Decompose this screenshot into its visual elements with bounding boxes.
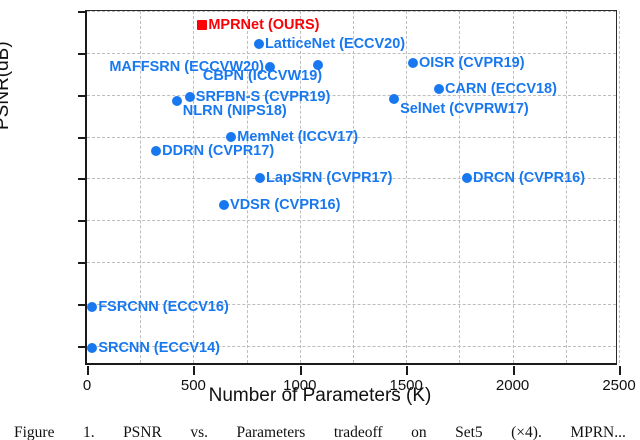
marker-circle-icon [87,343,97,353]
data-point-label: CBPN (ICCVW19) [203,69,322,84]
caption-word: Parameters [236,424,305,440]
marker-square-icon [197,20,207,30]
y-tick-mark [78,11,87,13]
data-point-label: MPRNet (OURS) [208,18,319,33]
data-point-label: DDRN (CVPR17) [162,144,274,159]
data-point-label: FSRCNN (ECCV16) [98,300,229,315]
x-tick-mark [406,366,408,375]
marker-circle-icon [434,84,444,94]
x-tick-mark [300,366,302,375]
marker-circle-icon [87,302,97,312]
gridline-horizontal [87,220,616,221]
x-tick-mark [513,366,515,375]
y-tick-mark [78,346,87,348]
caption-word: tradeoff [334,424,383,440]
marker-circle-icon [255,173,265,183]
data-point-label: LatticeNet (ECCV20) [265,37,405,52]
gridline-horizontal [87,11,616,12]
data-point-label: OISR (CVPR19) [419,56,525,71]
y-tick-mark [78,137,87,139]
y-tick-mark [78,304,87,306]
marker-circle-icon [389,94,399,104]
gridline-vertical [566,11,567,363]
data-point-label: DRCN (CVPR16) [473,171,585,186]
gridline-vertical [300,11,301,363]
gridline-horizontal [87,53,616,54]
x-tick-mark [619,366,621,375]
gridline-vertical [353,11,354,363]
y-tick-mark [78,220,87,222]
data-point-label: SelNet (CVPRW17) [400,102,529,117]
x-tick-mark [193,366,195,375]
gridline-vertical [619,11,620,363]
x-tick-mark [87,366,89,375]
caption-word: PSNR [123,424,162,440]
marker-circle-icon [172,96,182,106]
marker-circle-icon [185,92,195,102]
caption-word: 1. [83,424,95,440]
marker-circle-icon [408,58,418,68]
y-tick-mark [78,262,87,264]
y-tick-mark [78,95,87,97]
x-axis-label: Number of Parameters (K) [0,385,640,407]
caption-word: MPRN... [570,424,626,440]
data-point-label: CARN (ECCV18) [445,82,557,97]
gridline-horizontal [87,262,616,263]
caption-word: on [411,424,427,440]
caption-word: Set5 [455,424,483,440]
marker-circle-icon [462,173,472,183]
data-point-label: VDSR (CVPR16) [230,198,340,213]
data-point-label: SRCNN (ECCV14) [98,341,220,356]
marker-circle-icon [254,39,264,49]
caption-word: vs. [190,424,208,440]
marker-circle-icon [151,146,161,156]
caption-text: Figure1.PSNRvs.ParameterstradeoffonSet5(… [14,424,626,440]
figure-caption: Figure1.PSNRvs.ParameterstradeoffonSet5(… [0,424,640,440]
scatter-plot-axes: 30.5030.7531.0031.2531.5031.7532.0032.25… [85,10,617,365]
data-point-label: NLRN (NIPS18) [183,104,287,119]
y-axis-label: PSNR(dB) [0,41,14,130]
marker-circle-icon [219,200,229,210]
caption-word: (×4). [511,424,542,440]
gridline-vertical [406,11,407,363]
caption-word: Figure [14,424,54,440]
marker-circle-icon [226,132,236,142]
data-point-label: LapSRN (CVPR17) [266,171,393,186]
figure-container: 30.5030.7531.0031.2531.5031.7532.0032.25… [0,0,640,440]
y-tick-mark [78,53,87,55]
y-tick-mark [78,178,87,180]
